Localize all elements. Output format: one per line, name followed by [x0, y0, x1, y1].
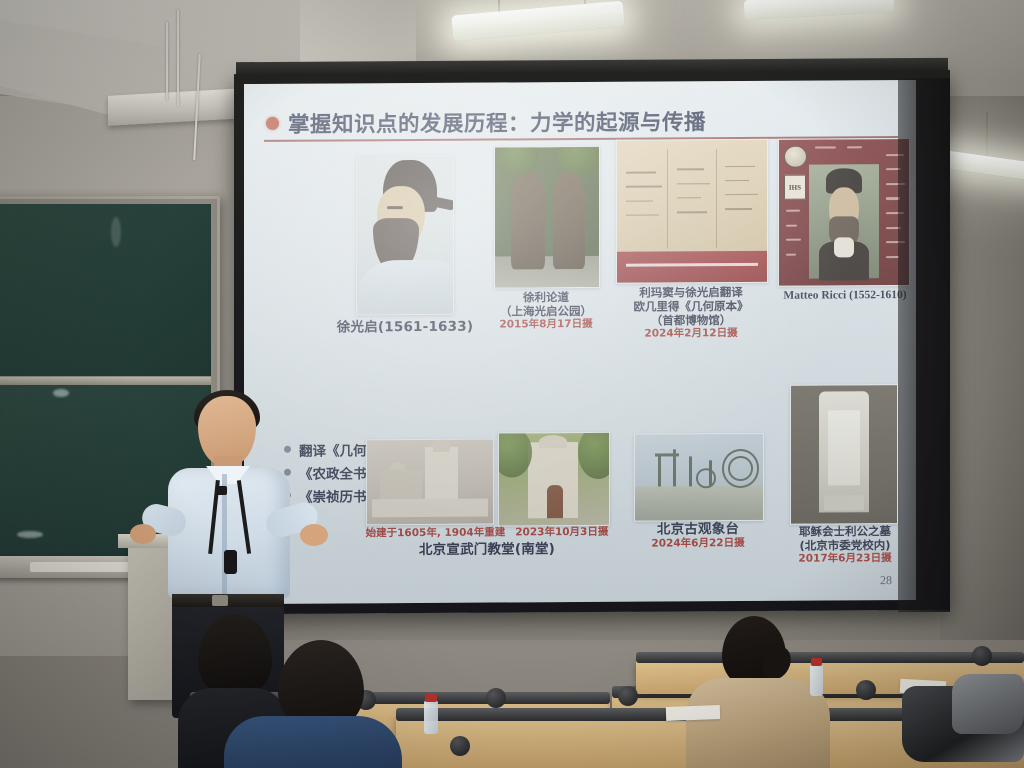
caption-main: 利玛窦与徐光启翻译 — [610, 285, 772, 300]
text-line — [626, 214, 659, 216]
photo-euclid-manuscript — [616, 139, 768, 284]
water-bottle — [424, 700, 438, 734]
church-dome-shape — [433, 439, 451, 452]
student-body-denim — [224, 716, 402, 768]
caption-sub: (北京市委党校内) — [772, 538, 916, 553]
bottle-cap — [811, 658, 822, 666]
photo-matteo-ricci-portrait: IHS — [778, 138, 910, 287]
latin-text-line — [847, 147, 863, 149]
caption-note: 始建于1605年, 1904年重建 — [366, 526, 506, 540]
lecturer-belt — [172, 594, 284, 607]
desk-knob — [972, 646, 992, 666]
stele-base-shape — [824, 495, 865, 510]
photo-nantang-church-historic — [366, 439, 494, 526]
photo-beijing-observatory — [634, 433, 764, 522]
hanging-wire — [177, 10, 179, 106]
caption-sub: （首都博物馆） — [610, 313, 772, 328]
caption-date: 2024年6月22日摄 — [628, 537, 768, 551]
text-line — [677, 197, 701, 199]
slide-title: 掌握知识点的发展历程：力学的起源与传播 — [288, 105, 706, 139]
foliage-shape — [557, 146, 600, 175]
text-line — [725, 165, 755, 167]
latin-text-line — [786, 210, 800, 212]
caption-main: 耶稣会士利公之墓 — [772, 524, 916, 539]
screen-shadow-right — [898, 78, 950, 612]
right-wall — [940, 0, 1024, 640]
caption-matteo-ricci: Matteo Ricci (1552-1610) — [762, 288, 916, 303]
instrument-stand — [709, 460, 712, 486]
blackboard-rail — [0, 377, 211, 385]
text-line — [725, 208, 752, 210]
caption-main: Matteo Ricci (1552-1610) — [762, 288, 916, 303]
paper-sheet — [666, 705, 720, 721]
collar-shape — [834, 237, 854, 258]
parapet-shape — [635, 485, 763, 520]
statue-figure-right — [553, 171, 585, 269]
caption-xu-li-statue: 徐利论道 （上海光启公园） 2015年8月17日摄 — [476, 290, 616, 332]
caption-date: 2024年2月12日摄 — [610, 327, 772, 341]
projection-screen: 掌握知识点的发展历程：力学的起源与传播 徐光启(1561-1633) — [244, 80, 916, 604]
caption-main: 北京宣武门教堂(南堂) — [348, 541, 626, 559]
bottle-cap — [425, 694, 437, 702]
text-line — [725, 180, 749, 182]
armillary-inner-ring — [728, 456, 752, 481]
text-line — [626, 186, 662, 188]
caption-main: 徐光启(1561-1633) — [320, 319, 490, 337]
blackboard-panel-upper — [0, 204, 211, 376]
caption-sub2: 欧几里得《几何原本》 — [610, 299, 772, 314]
text-line — [626, 172, 656, 174]
caption-ricci-tomb: 耶稣会士利公之墓 (北京市委党校内) 2017年6月23日摄 — [772, 524, 916, 566]
portrait-artwork — [357, 156, 453, 315]
latin-text-line — [786, 224, 798, 226]
text-line — [677, 211, 707, 213]
lamp-rod — [986, 112, 988, 160]
student-beige-jacket — [692, 616, 824, 768]
photo-xu-li-statue — [494, 146, 600, 289]
statue-figure-left — [511, 169, 545, 269]
desk-knob — [486, 688, 506, 708]
caption-date: 2023年10月3日摄 — [515, 526, 608, 539]
manuscript-artwork — [617, 140, 767, 283]
hanging-wire — [166, 22, 168, 100]
statue-artwork — [495, 147, 599, 288]
caption-main: 北京古观象台 — [628, 521, 768, 538]
wall-shape — [372, 498, 488, 517]
portrait-panel — [809, 164, 879, 278]
text-line — [677, 183, 710, 185]
caption-xu-guangqi: 徐光启(1561-1633) — [320, 319, 490, 337]
eye-shape — [387, 206, 403, 209]
draped-coat-secondary — [952, 674, 1024, 734]
latin-text-line — [786, 254, 796, 256]
lecturer-left-hand — [130, 524, 156, 544]
column-rule — [716, 149, 717, 248]
church-door-shape — [547, 485, 562, 518]
color-church-artwork — [499, 433, 609, 526]
caption-nantang-church: 始建于1605年, 1904年重建 2023年10月3日摄 北京宣武门教堂(南堂… — [348, 526, 626, 559]
chalk-smudge — [17, 531, 43, 538]
foliage-shape — [578, 432, 610, 479]
presentation-slide: 掌握知识点的发展历程：力学的起源与传播 徐光启(1561-1633) — [244, 80, 916, 604]
observatory-artwork — [635, 434, 763, 521]
belt-buckle — [212, 595, 228, 606]
caption-sub: （上海光启公园） — [476, 304, 616, 319]
chalk-smudge — [111, 217, 121, 247]
round-bullet-icon — [266, 116, 279, 129]
stele-inscription-area — [828, 410, 861, 485]
slide-page-number: 28 — [880, 573, 892, 588]
desk-knob — [856, 680, 876, 700]
latin-text-line — [886, 256, 899, 258]
text-line — [677, 169, 704, 171]
lecturer-right-hand — [300, 524, 328, 546]
ihs-monogram-icon: IHS — [784, 175, 806, 200]
student-denim-jacket — [238, 640, 398, 768]
historic-church-artwork — [367, 440, 493, 525]
latin-text-line — [815, 147, 836, 149]
text-line — [626, 200, 653, 202]
church-gable-shape — [539, 435, 568, 448]
water-bottle — [810, 664, 823, 696]
stele-artwork — [791, 385, 897, 524]
ricci-artwork: IHS — [779, 139, 909, 286]
caption-main: 徐利论道 — [476, 290, 616, 305]
instrument-stand — [658, 453, 661, 486]
microphone-clip-icon — [216, 486, 227, 495]
red-caption-band — [617, 251, 767, 283]
caption-date: 2015年8月17日摄 — [476, 318, 616, 332]
student-body-beige — [686, 678, 830, 768]
photo-xu-guangqi-portrait — [356, 155, 454, 316]
microphone-transmitter — [224, 550, 237, 574]
desk-knob — [450, 736, 470, 756]
lecture-hall-photo: 掌握知识点的发展历程：力学的起源与传播 徐光启(1561-1633) — [0, 0, 1024, 768]
seal-medallion-icon — [784, 145, 807, 168]
robe-shape — [359, 260, 453, 315]
latin-text-line — [786, 239, 802, 241]
instrument-stand — [689, 457, 692, 486]
photo-nantang-church-color — [498, 432, 610, 527]
caption-euclid-manuscript: 利玛窦与徐光启翻译 欧几里得《几何原本》 （首都博物馆） 2024年2月12日摄 — [610, 285, 772, 341]
instrument-arm — [655, 453, 678, 456]
caption-beijing-observatory: 北京古观象台 2024年6月22日摄 — [628, 521, 768, 551]
stele-shape — [819, 391, 870, 513]
text-line — [725, 194, 758, 196]
column-rule — [667, 149, 668, 248]
photo-ricci-tomb-stele — [790, 384, 898, 525]
chalk-smudge — [53, 389, 69, 397]
desk-knob — [618, 686, 638, 706]
caption-date: 2017年6月23日摄 — [772, 552, 916, 566]
small-instrument-ring — [696, 469, 715, 489]
